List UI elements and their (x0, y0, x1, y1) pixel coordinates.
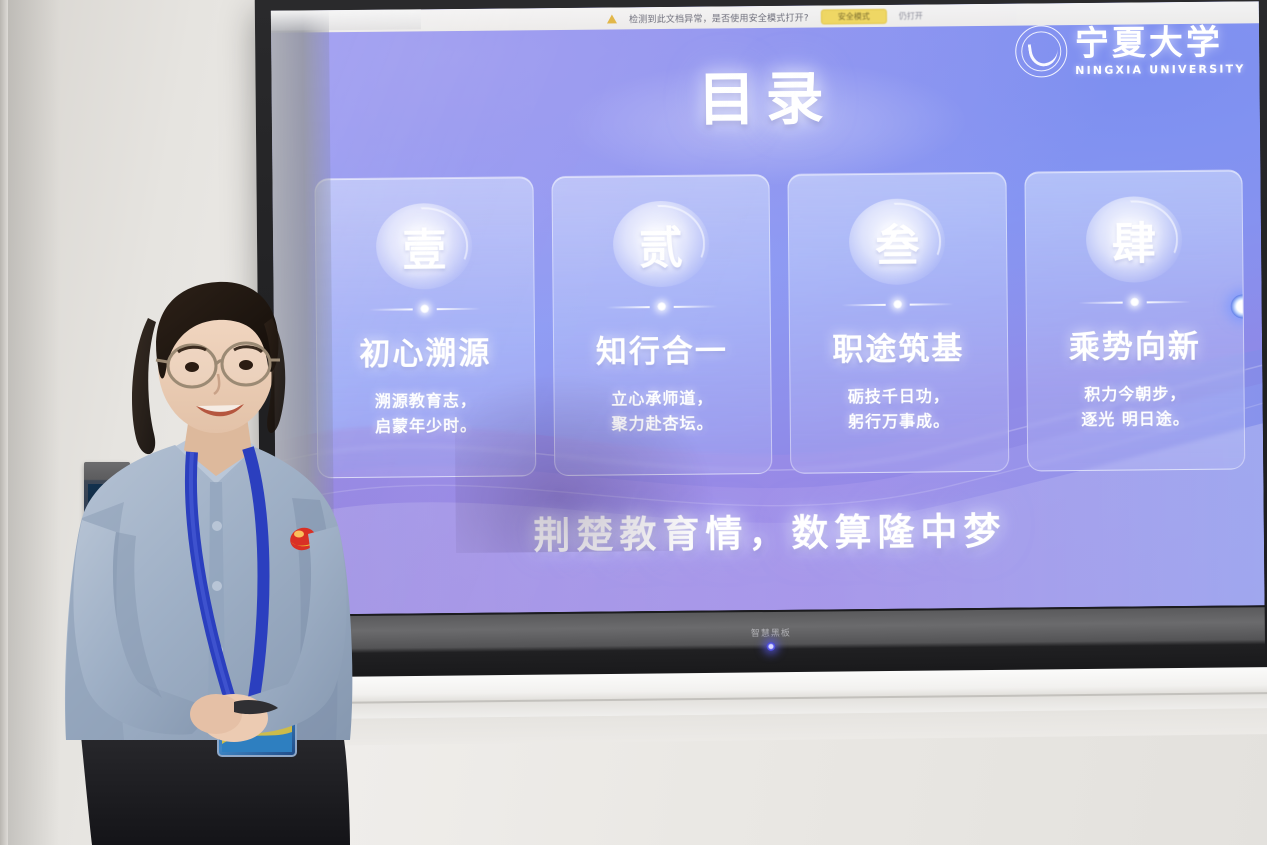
numeral-badge: 贰 (600, 195, 721, 292)
card-title: 乘势向新 (1069, 321, 1201, 367)
card-subtitle-line-1: 积力今朝步， (1081, 382, 1190, 408)
card-numeral: 肆 (1112, 207, 1157, 271)
presenter-skirt (80, 722, 350, 845)
card-subtitle: 立心承师道， 聚力赴杏坛。 (611, 387, 713, 438)
card-subtitle-line-1: 砺技千日功， (848, 384, 950, 410)
card-divider (1078, 297, 1190, 308)
agenda-card-list: 壹 初心溯源 溯源教育志， 启蒙年少时。 (314, 169, 1245, 478)
card-divider (842, 299, 954, 310)
notice-message: 检测到此文档异常，是否使用安全模式打开? (629, 10, 809, 25)
classroom-scene: 检测到此文档异常，是否使用安全模式打开? 安全模式 仍打开 目录 宁夏大学 NI… (0, 0, 1267, 845)
card-subtitle-line-2: 逐光 明日途。 (1081, 407, 1190, 433)
agenda-card-2[interactable]: 贰 知行合一 立心承师道， 聚力赴杏坛。 (551, 174, 772, 476)
notice-primary-button[interactable]: 安全模式 (821, 8, 887, 24)
card-subtitle-line-2: 聚力赴杏坛。 (611, 411, 713, 437)
university-name-en: NINGXIA UNIVERSITY (1075, 63, 1245, 76)
power-led-indicator (766, 642, 775, 651)
presenter-figure: 手 (20, 270, 440, 845)
card-subtitle-line-2: 躬行万事成。 (848, 409, 950, 435)
card-subtitle: 砺技千日功， 躬行万事成。 (848, 384, 950, 435)
card-title: 知行合一 (596, 325, 728, 371)
university-logo: 宁夏大学 NINGXIA UNIVERSITY (1015, 23, 1246, 77)
numeral-badge: 叁 (837, 193, 958, 290)
card-title: 职途筑基 (832, 323, 964, 369)
divider-dot-icon (893, 300, 902, 309)
card-subtitle: 积力今朝步， 逐光 明日途。 (1081, 382, 1190, 433)
agenda-card-3[interactable]: 叁 职途筑基 砺技千日功， 躬行万事成。 (787, 172, 1008, 474)
card-numeral: 贰 (639, 212, 684, 276)
wall-seam (0, 0, 8, 845)
divider-dot-icon (657, 302, 666, 311)
card-divider (605, 301, 717, 312)
notice-secondary-link[interactable]: 仍打开 (899, 10, 923, 21)
card-numeral: 叁 (875, 210, 920, 274)
touch-cursor-dot[interactable] (1231, 294, 1246, 318)
university-logo-text: 宁夏大学 NINGXIA UNIVERSITY (1075, 25, 1246, 76)
warning-triangle-icon (607, 14, 617, 23)
agenda-card-4[interactable]: 肆 乘势向新 积力今朝步， 逐光 明日途。 (1024, 169, 1245, 471)
numeral-badge: 肆 (1073, 191, 1194, 288)
university-seal-icon (1015, 25, 1067, 77)
card-subtitle-line-1: 立心承师道， (611, 387, 713, 413)
divider-dot-icon (1130, 297, 1139, 306)
panel-brand-label: 智慧黑板 (751, 626, 791, 639)
card-numeral: 壹 (402, 214, 447, 278)
university-name-cn: 宁夏大学 (1075, 25, 1246, 61)
